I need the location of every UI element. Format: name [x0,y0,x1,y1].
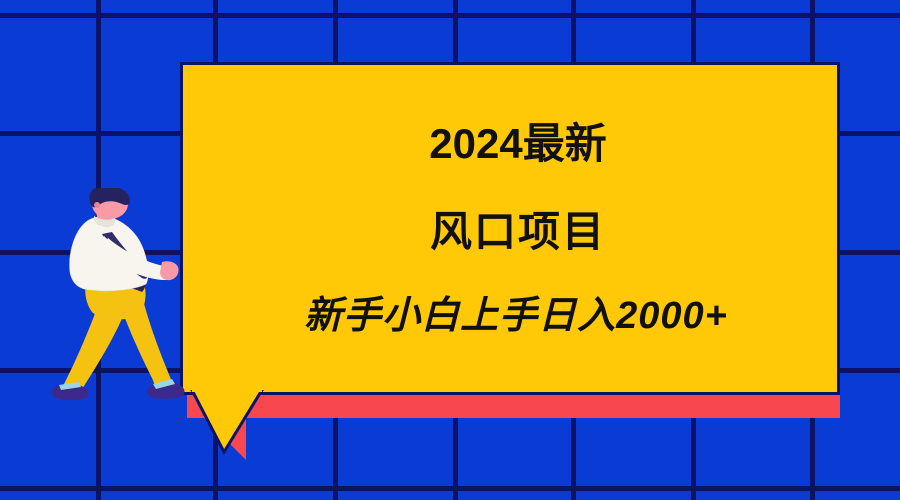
headline-block: 2024最新 风口项目 新手小白上手日入2000+ [180,62,840,395]
headline-line-1: 2024最新 [429,123,606,165]
hand [160,261,179,280]
poster-canvas: 2024最新 风口项目 新手小白上手日入2000+ [0,0,900,500]
headline-line-3: 新手小白上手日入2000+ [304,297,728,335]
ear [94,202,100,208]
headline-line-2: 风口项目 [430,211,606,253]
person-pushing-illustration [52,188,202,413]
